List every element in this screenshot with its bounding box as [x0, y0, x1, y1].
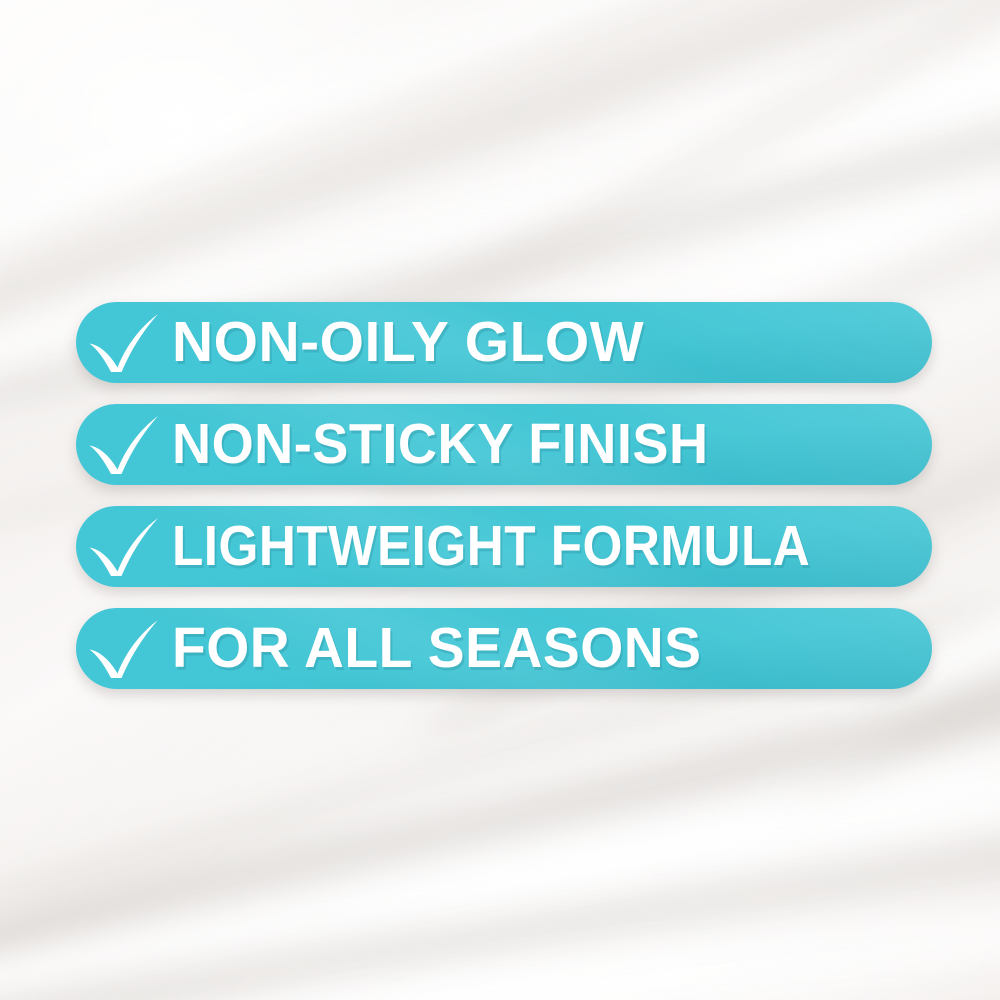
benefit-label: NON-STICKY FINISH: [172, 416, 709, 473]
benefit-item: NON-STICKY FINISH: [76, 404, 932, 485]
benefit-item: LIGHTWEIGHT FORMULA: [76, 506, 932, 587]
check-icon: [76, 404, 172, 485]
check-icon: [76, 302, 172, 383]
benefit-list: NON-OILY GLOW NON-STICKY FINISH LIGHTWEI…: [76, 302, 932, 689]
benefit-label: NON-OILY GLOW: [172, 314, 644, 371]
benefit-label: FOR ALL SEASONS: [172, 620, 702, 677]
benefit-item: NON-OILY GLOW: [76, 302, 932, 383]
benefit-label: LIGHTWEIGHT FORMULA: [172, 518, 810, 575]
check-icon: [76, 608, 172, 689]
product-benefits-banner: NON-OILY GLOW NON-STICKY FINISH LIGHTWEI…: [0, 0, 1000, 1000]
check-icon: [76, 506, 172, 587]
benefit-item: FOR ALL SEASONS: [76, 608, 932, 689]
